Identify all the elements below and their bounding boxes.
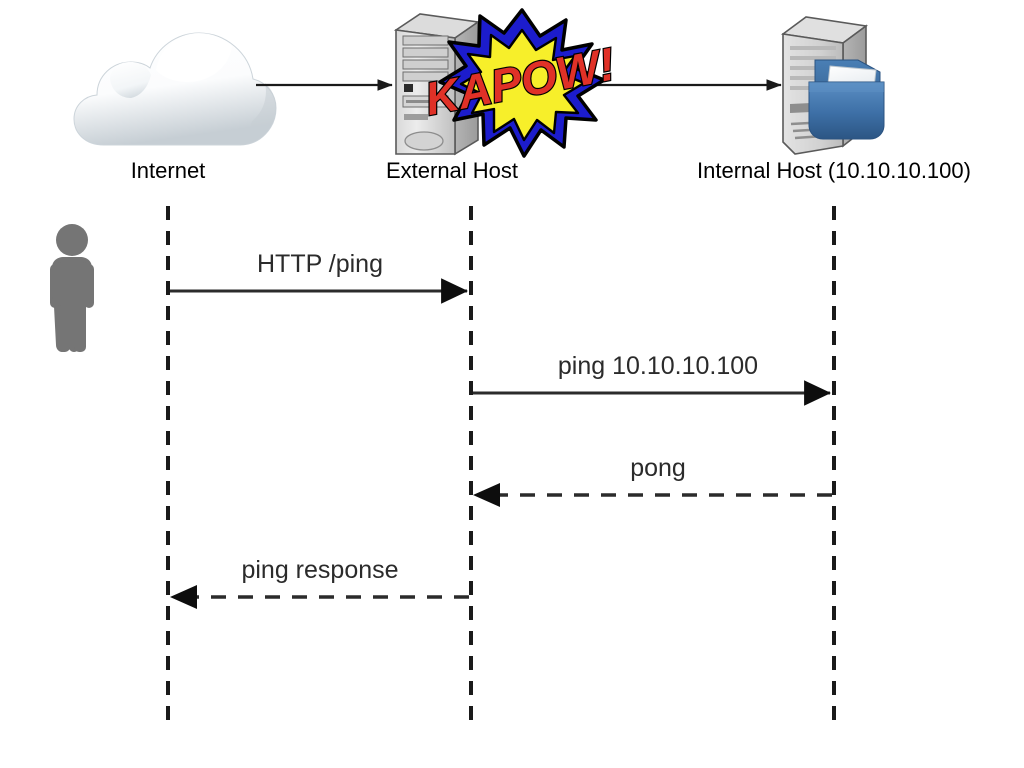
message-label-http-ping: HTTP /ping xyxy=(257,250,383,278)
message-arrowhead-pong xyxy=(473,483,500,507)
diagram-canvas: KAPOW! Internet External Host Internal H… xyxy=(0,0,1024,768)
message-label-pong: pong xyxy=(630,454,686,482)
message-ping-internal: ping 10.10.10.100 xyxy=(473,352,830,393)
message-ping-response: ping response xyxy=(170,556,469,609)
message-label-ping-internal: ping 10.10.10.100 xyxy=(558,352,758,380)
node-label-internal-host: Internal Host (10.10.10.100) xyxy=(697,158,971,183)
sequence-diagram-svg: KAPOW! Internet External Host Internal H… xyxy=(0,0,1024,768)
cloud-icon xyxy=(74,33,276,145)
node-label-internet: Internet xyxy=(131,158,206,183)
person-icon xyxy=(50,224,94,352)
server-folder-icon xyxy=(783,17,884,154)
message-http-ping: HTTP /ping xyxy=(170,250,467,291)
message-pong: pong xyxy=(473,454,832,507)
message-label-ping-response: ping response xyxy=(241,556,398,584)
message-arrowhead-ping-response xyxy=(170,585,197,609)
node-label-external-host: External Host xyxy=(386,158,518,183)
